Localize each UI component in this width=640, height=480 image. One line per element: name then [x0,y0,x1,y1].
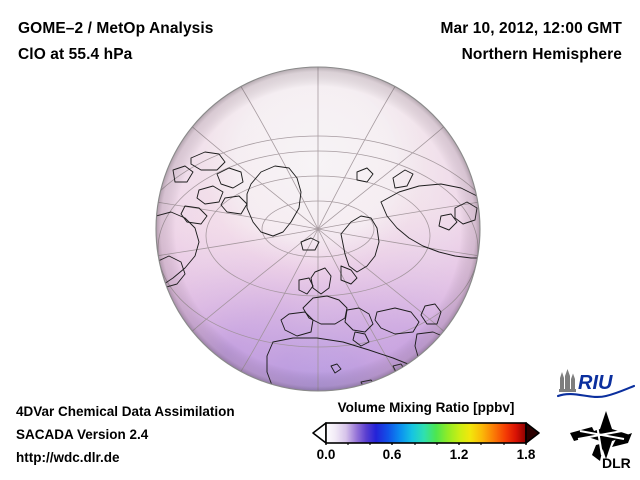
colorbar-scale [312,421,540,445]
header-left-block: GOME–2 / MetOp Analysis ClO at 55.4 hPa [18,16,348,68]
colorbar-extend-left [313,423,326,443]
colorbar-tick-1: 0.6 [383,447,402,462]
footer-credits-block: 4DVar Chemical Data Assimilation SACADA … [16,400,235,469]
credit-method: 4DVar Chemical Data Assimilation [16,400,235,423]
colorbar-tick-3: 1.8 [517,447,536,462]
colorbar-tick-labels: 0.0 0.6 1.2 1.8 [312,447,540,465]
riu-wordmark: RIU [578,372,613,394]
riu-tower-icon [559,369,576,392]
colorbar-extend-right [526,423,539,443]
timestamp-label: Mar 10, 2012, 12:00 GMT [322,16,622,42]
globe-map [155,66,481,392]
hemisphere-label: Northern Hemisphere [322,42,622,68]
dlr-wordmark: DLR [602,455,631,471]
header-right-block: Mar 10, 2012, 12:00 GMT Northern Hemisph… [322,16,622,68]
credit-version: SACADA Version 2.4 [16,423,235,446]
colorbar-title: Volume Mixing Ratio [ppbv] [312,399,540,417]
colorbar-tick-0: 0.0 [317,447,336,462]
colorbar-gradient [326,423,526,443]
title-species-level: ClO at 55.4 hPa [18,42,348,68]
title-instrument: GOME–2 / MetOp Analysis [18,16,348,42]
colorbar: Volume Mixing Ratio [ppbv] [312,399,540,465]
globe-limb-shading [156,67,480,391]
dlr-logo: DLR [566,409,636,471]
colorbar-tick-2: 1.2 [450,447,469,462]
riu-logo: RIU [556,367,636,401]
credit-url: http://wdc.dlr.de [16,446,235,469]
